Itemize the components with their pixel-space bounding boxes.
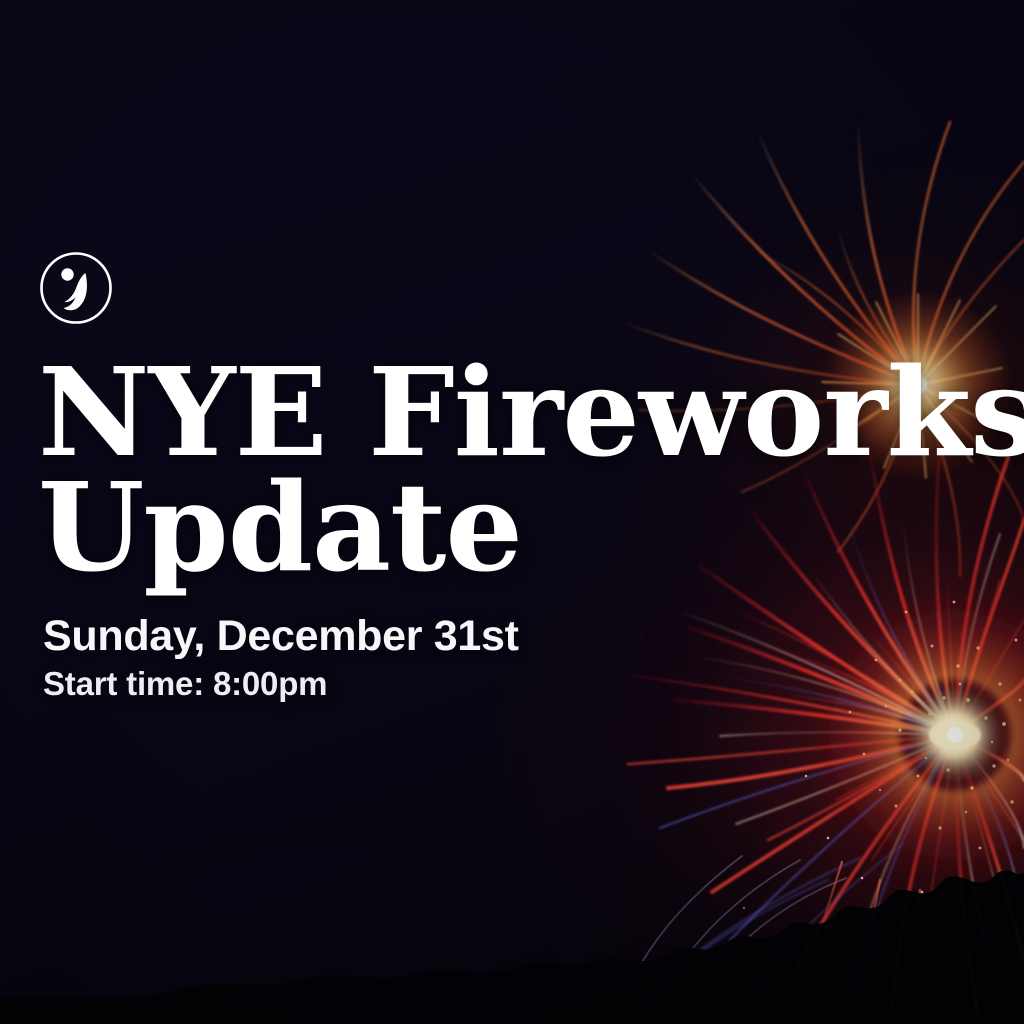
circle-figure-logo-icon (38, 250, 114, 326)
event-date: Sunday, December 31st (43, 614, 968, 659)
page-title: NYE Fireworks Update (38, 352, 968, 588)
nye-fireworks-poster: NYE Fireworks Update Sunday, December 31… (0, 0, 1024, 1024)
poster-content: NYE Fireworks Update Sunday, December 31… (38, 250, 968, 702)
headline-line-2: Update (38, 467, 968, 588)
brand-logo[interactable] (38, 250, 114, 326)
event-start-time: Start time: 8:00pm (43, 667, 968, 702)
